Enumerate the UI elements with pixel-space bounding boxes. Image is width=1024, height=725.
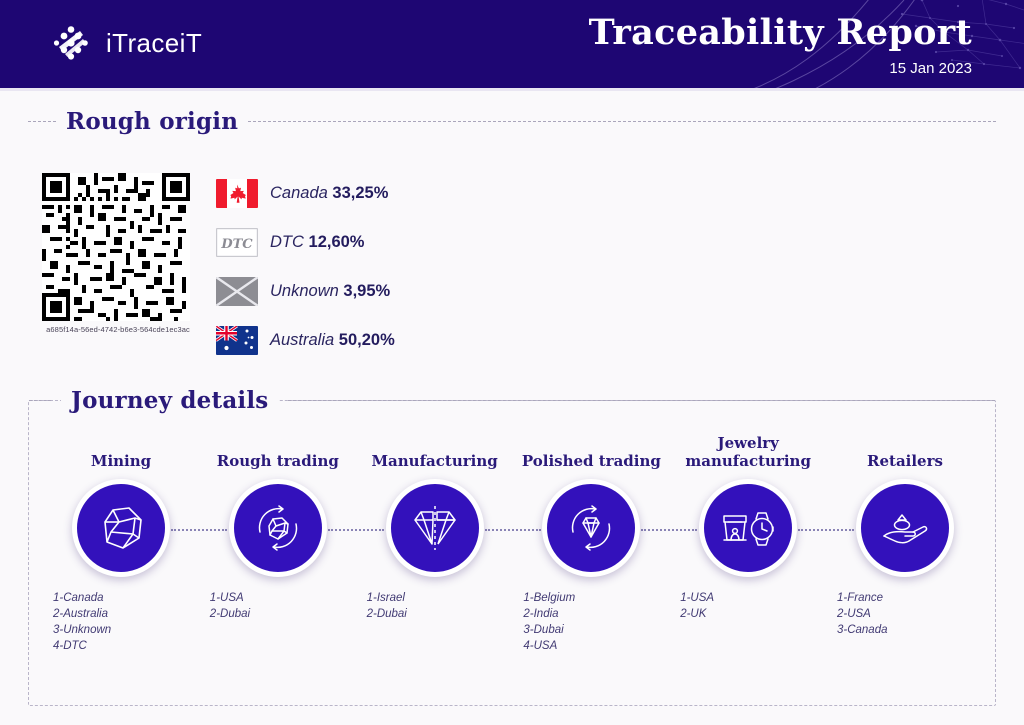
stage-place-line: 2-Dubai [210, 607, 250, 623]
stage-place-line: 1-USA [210, 591, 250, 607]
stage-label-polished-trading: Polished trading [522, 431, 661, 471]
itraceit-nodes-logo-icon [50, 20, 96, 66]
origin-label-unknown: Unknown 3,95% [270, 282, 390, 301]
stage-icon-manufacturing[interactable] [386, 479, 484, 577]
brand: iTraceiT [50, 20, 202, 66]
stage-icon-polished-trading[interactable] [542, 479, 640, 577]
journey-stages: Mining 1-Canada2-Australia3-Unknown4-DTC… [29, 431, 997, 654]
qr-id-text: a685f14a-56ed-4742-b6e3-564cde1ec3ac [42, 325, 194, 334]
stage-place-line: 2-India [523, 607, 575, 623]
stage-label-rough-trading: Rough trading [217, 431, 339, 471]
origin-list: Canada 33,25% DTC DTC 12,60% Unknown 3,9… [216, 173, 395, 356]
stage-place-line: 2-USA [837, 607, 888, 623]
rough-origin-section: Rough origin [28, 108, 996, 356]
flag-canada-icon [216, 179, 258, 208]
stage-place-line: 1-Belgium [523, 591, 575, 607]
stage-place-line: 2-Dubai [367, 607, 407, 623]
rough-diamond-icon [91, 498, 151, 558]
stage-polished-trading[interactable]: Polished trading 1-Belgium2-India3-Dubai… [515, 431, 667, 654]
badge-dtc-icon: DTC [216, 228, 258, 257]
stage-place-line: 3-Canada [837, 623, 888, 639]
qr-code-icon[interactable] [42, 173, 190, 321]
hand-holding-ring-icon [875, 498, 935, 558]
stage-place-line: 1-Israel [367, 591, 407, 607]
flag-unknown-icon [216, 277, 258, 306]
stage-icon-mining[interactable] [72, 479, 170, 577]
polished-diamond-cycle-icon [561, 498, 621, 558]
heading-dash-left [28, 121, 56, 122]
stage-connector [798, 529, 854, 531]
stage-label-retailers: Retailers [867, 431, 943, 471]
stage-icon-rough-trading[interactable] [229, 479, 327, 577]
stage-places-retailers: 1-France2-USA3-Canada [829, 591, 888, 639]
stage-icon-retailers[interactable] [856, 479, 954, 577]
stage-rough-trading[interactable]: Rough trading 1-USA2-Dubai [202, 431, 354, 654]
stage-place-line: 2-UK [680, 607, 714, 623]
stage-icon-jewelry-manufacturing[interactable] [699, 479, 797, 577]
stage-connector [641, 529, 697, 531]
origin-row-dtc: DTC DTC 12,60% [216, 226, 395, 258]
ring-box-watch-icon [718, 498, 778, 558]
journey-heading-dash-right [288, 400, 995, 401]
stage-place-line: 3-Unknown [53, 623, 111, 639]
rough-diamond-cycle-icon [248, 498, 308, 558]
split-diamond-icon [405, 498, 465, 558]
stage-place-line: 4-DTC [53, 639, 111, 655]
stage-place-line: 3-Dubai [523, 623, 575, 639]
stage-places-manufacturing: 1-Israel2-Dubai [359, 591, 407, 623]
stage-place-line: 2-Australia [53, 607, 111, 623]
origin-label-australia: Australia 50,20% [270, 331, 395, 350]
svg-text:DTC: DTC [220, 237, 253, 252]
journey-details-title: Journey details [61, 387, 278, 414]
stage-connector [328, 529, 384, 531]
origin-label-dtc: DTC 12,60% [270, 233, 364, 252]
header-divider [0, 88, 1024, 91]
report-header: iTraceiT Traceability Report 15 Jan 2023 [0, 0, 1024, 88]
stage-jewelry-manufacturing[interactable]: Jewelry manufacturing [672, 431, 824, 654]
stage-place-line: 4-USA [523, 639, 575, 655]
stage-place-line: 1-France [837, 591, 888, 607]
stage-places-mining: 1-Canada2-Australia3-Unknown4-DTC [45, 591, 111, 654]
stage-mining[interactable]: Mining 1-Canada2-Australia3-Unknown4-DTC [45, 431, 197, 654]
stage-places-polished-trading: 1-Belgium2-India3-Dubai4-USA [515, 591, 575, 654]
origin-label-canada: Canada 33,25% [270, 184, 388, 203]
stage-label-manufacturing: Manufacturing [371, 431, 497, 471]
origin-row-unknown: Unknown 3,95% [216, 275, 395, 307]
journey-heading-dash-left [29, 400, 51, 401]
brand-name: iTraceiT [106, 28, 202, 59]
stage-place-line: 1-Canada [53, 591, 111, 607]
rough-origin-title: Rough origin [66, 108, 238, 135]
stage-places-jewelry-manufacturing: 1-USA2-UK [672, 591, 714, 623]
stage-retailers[interactable]: Retailers 1-France2-USA3-Canada [829, 431, 981, 654]
qr-block: a685f14a-56ed-4742-b6e3-564cde1ec3ac [42, 173, 194, 334]
journey-details-heading: Journey details [29, 387, 995, 414]
stage-label-jewelry-manufacturing: Jewelry manufacturing [672, 431, 824, 471]
origin-row-australia: Australia 50,20% [216, 324, 395, 356]
stage-connector [171, 529, 227, 531]
report-date: 15 Jan 2023 [889, 60, 972, 77]
stage-place-line: 1-USA [680, 591, 714, 607]
stage-manufacturing[interactable]: Manufacturing 1-Israel2-Dubai [359, 431, 511, 654]
journey-details-section: Journey details Mining 1-Canada2-Austral… [28, 400, 996, 706]
report-title: Traceability Report [589, 14, 972, 53]
stage-connector [485, 529, 541, 531]
stage-places-rough-trading: 1-USA2-Dubai [202, 591, 250, 623]
flag-australia-icon [216, 326, 258, 355]
rough-origin-heading: Rough origin [28, 108, 996, 135]
heading-dash-right [248, 121, 996, 122]
stage-label-mining: Mining [91, 431, 151, 471]
rough-origin-body: a685f14a-56ed-4742-b6e3-564cde1ec3ac Can… [28, 173, 996, 356]
origin-row-canada: Canada 33,25% [216, 177, 395, 209]
